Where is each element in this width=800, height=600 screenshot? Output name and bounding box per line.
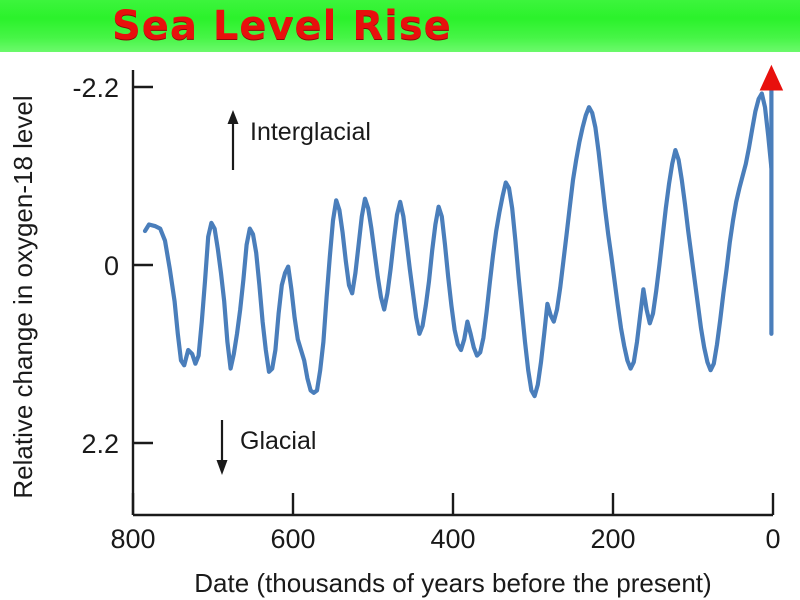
- glacial-annotation: Glacial: [217, 420, 317, 475]
- axis-lines: [133, 70, 773, 515]
- chart-container: -2.202.2 8006004002000 Interglacial Glac…: [0, 52, 800, 600]
- x-tick-label: 400: [430, 524, 475, 554]
- y-axis-ticks: -2.202.2: [72, 73, 153, 459]
- y-axis-title: Relative change in oxygen-18 level: [8, 95, 38, 498]
- oxygen-18-curve: [145, 94, 771, 397]
- y-tick-label: -2.2: [72, 73, 119, 103]
- x-axis-title: Date (thousands of years before the pres…: [194, 568, 711, 598]
- slide-root: Sea Level Rise -2.202.2 8006004002000: [0, 0, 800, 600]
- x-tick-label: 200: [590, 524, 635, 554]
- title-banner: Sea Level Rise: [0, 0, 800, 52]
- y-tick-label: 0: [104, 251, 119, 281]
- oxygen-18-line-chart: -2.202.2 8006004002000 Interglacial Glac…: [0, 52, 800, 600]
- data-series-group: [145, 94, 771, 397]
- interglacial-annotation: Interglacial: [228, 110, 371, 170]
- interglacial-label: Interglacial: [250, 118, 371, 146]
- x-axis-ticks: 8006004002000: [110, 493, 780, 554]
- page-title: Sea Level Rise: [0, 0, 800, 52]
- glacial-label: Glacial: [240, 427, 316, 455]
- y-tick-label: 2.2: [81, 429, 119, 459]
- x-tick-label: 0: [765, 524, 780, 554]
- x-tick-label: 800: [110, 524, 155, 554]
- x-tick-label: 600: [270, 524, 315, 554]
